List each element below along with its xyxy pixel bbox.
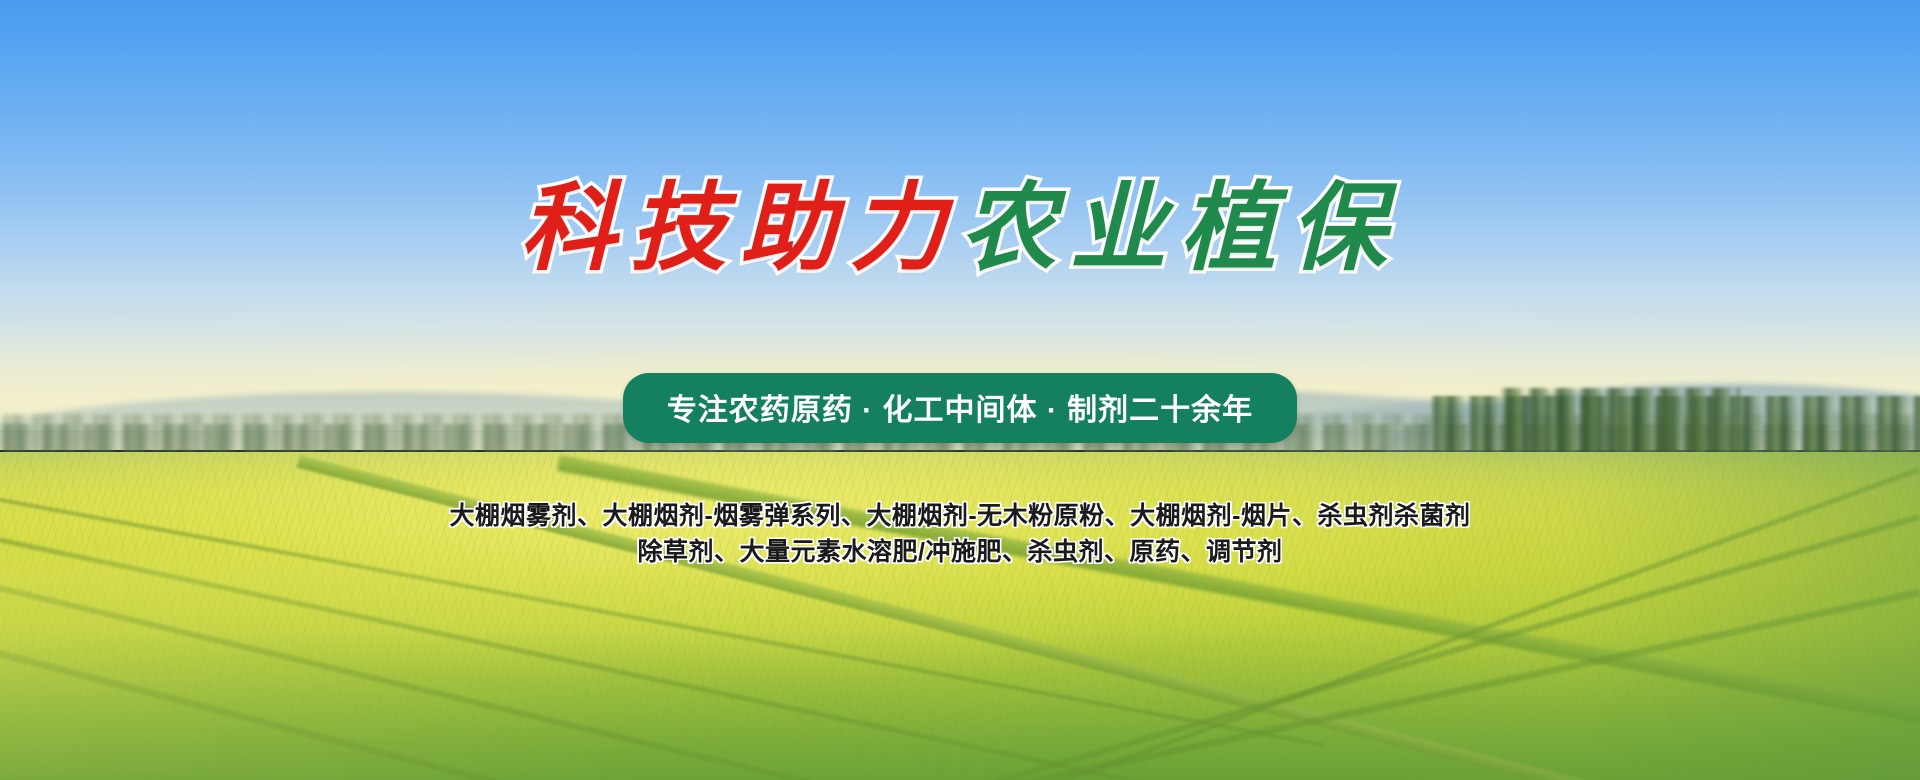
banner-badge-container: 专注农药原药 · 化工中间体 · 制剂二十余年 [0,373,1920,443]
field-shade-bottom [0,630,1920,780]
headline-part-red: 科技助力 [520,171,960,284]
product-line-2: 除草剂、大量元素水溶肥/冲施肥、杀虫剂、原药、调节剂 [0,534,1920,570]
product-list: 大棚烟雾剂、大棚烟剂-烟雾弹系列、大棚烟剂-无木粉原粉、大棚烟剂-烟片、杀虫剂杀… [0,498,1920,571]
banner-headline: 科技助力农业植保 [0,178,1920,279]
hero-banner: 科技助力农业植保 专注农药原药 · 化工中间体 · 制剂二十余年 大棚烟雾剂、大… [0,0,1920,780]
tagline-badge: 专注农药原药 · 化工中间体 · 制剂二十余年 [623,373,1297,443]
product-line-1: 大棚烟雾剂、大棚烟剂-烟雾弹系列、大棚烟剂-无木粉原粉、大棚烟剂-烟片、杀虫剂杀… [0,498,1920,534]
headline-part-green: 农业植保 [960,171,1400,284]
